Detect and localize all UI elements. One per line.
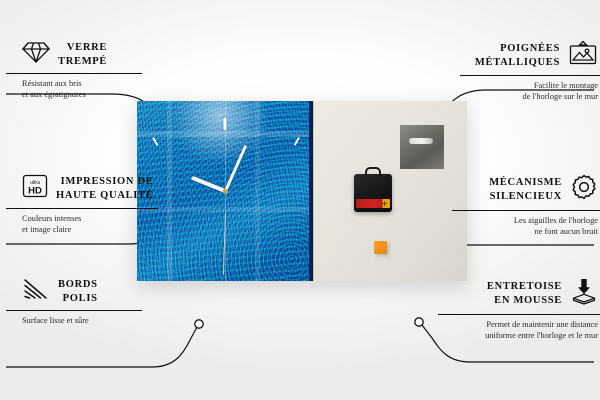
callout-verre-trempe[interactable]: VERRE TREMPÉ Résistant aux bris et aux é… xyxy=(22,40,142,100)
battery xyxy=(356,199,390,208)
clock-mechanism xyxy=(354,174,392,212)
picture-frame-icon xyxy=(568,40,598,71)
callout-title-line2: MÉTALLIQUES xyxy=(475,57,560,68)
callout-desc-line1: Résistant aux bris xyxy=(22,78,142,89)
callout-rule xyxy=(6,208,158,209)
callout-title-line1: BORDS xyxy=(58,279,98,290)
callout-desc-line1: Permet de maintenir une distance xyxy=(438,319,598,330)
callout-title-line2: POLIS xyxy=(63,293,98,304)
callout-rule xyxy=(6,73,142,74)
callout-desc-line1: Couleurs intenses xyxy=(22,213,158,224)
callout-impression-haute-qualite[interactable]: ultra HD IMPRESSION DE HAUTE QUALITÉ Cou… xyxy=(22,173,158,235)
callout-rule xyxy=(6,310,142,311)
callout-title-line1: MÉCANISME xyxy=(489,177,562,188)
callout-title-line1: ENTRETOISE xyxy=(487,281,562,292)
mechanism-loop xyxy=(365,167,381,176)
callout-desc-line1: Surface lisse et sûre xyxy=(22,315,142,326)
gear-icon xyxy=(570,173,598,206)
foam-spacer xyxy=(374,241,387,254)
polished-edge-icon xyxy=(22,277,50,306)
svg-text:HD: HD xyxy=(28,186,42,197)
callout-bords-polis[interactable]: BORDS POLIS Surface lisse et sûre xyxy=(22,277,142,326)
callout-desc-line2: ne font aucun bruit xyxy=(452,226,598,237)
foam-spacer-icon xyxy=(570,277,598,310)
marker-entretoise xyxy=(415,318,423,326)
hands-cap xyxy=(223,189,228,194)
callout-desc-line2: uniforme entre l'horloge et le mur xyxy=(438,330,598,341)
callout-title-line1: IMPRESSION DE xyxy=(61,176,154,187)
callout-title-line1: VERRE xyxy=(67,42,107,53)
callout-poignees-metalliques[interactable]: POIGNÉES MÉTALLIQUES Facilite le montage… xyxy=(460,40,598,102)
callout-title-line2: TREMPÉ xyxy=(58,56,107,67)
infographic-stage: VERRE TREMPÉ Résistant aux bris et aux é… xyxy=(0,0,600,400)
callout-entretoise-en-mousse[interactable]: ENTRETOISE EN MOUSSE Permet de maintenir… xyxy=(438,277,598,341)
clock-front-face xyxy=(137,101,313,281)
metal-hanger-plate xyxy=(400,125,444,169)
callout-rule xyxy=(452,210,600,211)
hanger-slot xyxy=(409,138,433,144)
callout-desc-line1: Facilite le montage xyxy=(460,80,598,91)
clock-back-panel xyxy=(313,101,467,281)
product-image xyxy=(137,101,467,281)
callout-title-line2: SILENCIEUX xyxy=(490,191,562,202)
marker-bords xyxy=(195,320,203,328)
callout-title-line2: HAUTE QUALITÉ xyxy=(56,190,154,201)
callout-rule xyxy=(460,75,600,76)
ultra-hd-icon: ultra HD xyxy=(22,173,48,204)
callout-mecanisme-silencieux[interactable]: MÉCANISME SILENCIEUX Les aiguilles de l'… xyxy=(452,173,598,237)
callout-title-line2: EN MOUSSE xyxy=(494,295,562,306)
callout-desc-line1: Les aiguilles de l'horloge xyxy=(452,215,598,226)
callout-desc-line2: et image claire xyxy=(22,224,158,235)
diamond-icon xyxy=(22,40,50,69)
connector-bords xyxy=(6,327,197,367)
callout-desc-line2: de l'horloge sur le mur xyxy=(460,91,598,102)
callout-rule xyxy=(438,314,600,315)
callout-desc-line2: et aux égratignures xyxy=(22,89,142,100)
callout-title-line1: POIGNÉES xyxy=(500,43,560,54)
